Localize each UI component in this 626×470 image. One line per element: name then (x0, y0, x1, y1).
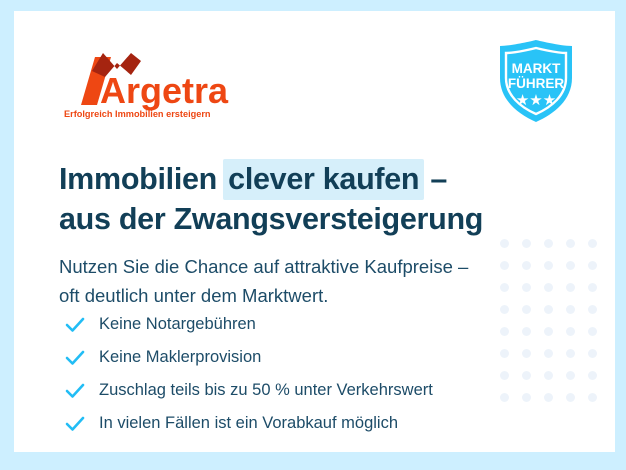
list-item: In vielen Fällen ist ein Vorabkauf mögli… (64, 407, 433, 440)
grid-dot (566, 305, 575, 314)
grid-dot (588, 349, 597, 358)
grid-dot (500, 327, 509, 336)
grid-dot (500, 261, 509, 270)
page-subheadline: Nutzen Sie die Chance auf attraktive Kau… (59, 252, 468, 310)
grid-dot (588, 393, 597, 402)
subheadline-line-2: oft deutlich unter dem Marktwert. (59, 285, 328, 306)
headline-suffix: – (422, 162, 447, 196)
dot-grid-decoration (493, 232, 603, 408)
grid-dot (588, 239, 597, 248)
grid-dot (588, 327, 597, 336)
marktfuehrer-badge: MARKT FÜHRER ★★★ (492, 38, 580, 124)
grid-dot (544, 305, 553, 314)
headline-prefix: Immobilien (59, 162, 225, 196)
check-icon (64, 413, 86, 435)
page-headline: Immobilien clever kaufen – aus der Zwang… (59, 160, 483, 238)
subheadline-line-1: Nutzen Sie die Chance auf attraktive Kau… (59, 256, 468, 277)
benefit-label: Zuschlag teils bis zu 50 % unter Verkehr… (99, 381, 433, 400)
check-icon (64, 380, 86, 402)
list-item: Zuschlag teils bis zu 50 % unter Verkehr… (64, 374, 433, 407)
grid-dot (522, 305, 531, 314)
grid-dot (544, 327, 553, 336)
headline-line-1: Immobilien clever kaufen – (59, 162, 447, 196)
grid-dot (588, 283, 597, 292)
grid-dot (588, 261, 597, 270)
badge-stars: ★★★ (516, 91, 556, 109)
grid-dot (588, 371, 597, 380)
grid-dot (500, 393, 509, 402)
grid-dot (566, 261, 575, 270)
grid-dot (566, 393, 575, 402)
grid-dot (522, 261, 531, 270)
check-icon (64, 314, 86, 336)
badge-line1: MARKT (512, 61, 561, 76)
check-icon (64, 347, 86, 369)
grid-dot (522, 349, 531, 358)
grid-dot (522, 327, 531, 336)
grid-dot (566, 283, 575, 292)
grid-dot (544, 239, 553, 248)
grid-dot (522, 393, 531, 402)
grid-dot (500, 283, 509, 292)
grid-dot (566, 349, 575, 358)
grid-dot (544, 393, 553, 402)
logo-wordmark: Argetra (100, 70, 229, 111)
grid-dot (522, 239, 531, 248)
grid-dot (522, 371, 531, 380)
grid-dot (544, 283, 553, 292)
badge-line2: FÜHRER (508, 76, 564, 91)
benefit-label: In vielen Fällen ist ein Vorabkauf mögli… (99, 414, 398, 433)
headline-line-2: aus der Zwangsversteigerung (59, 200, 483, 238)
grid-dot (500, 305, 509, 314)
list-item: Keine Notargebühren (64, 308, 433, 341)
grid-dot (544, 349, 553, 358)
benefit-label: Keine Notargebühren (99, 315, 256, 334)
argetra-logo[interactable]: Argetra Erfolgreich Immobilien ersteiger… (59, 47, 259, 119)
benefit-label: Keine Maklerprovision (99, 348, 261, 367)
grid-dot (500, 349, 509, 358)
list-item: Keine Maklerprovision (64, 341, 433, 374)
headline-highlight: clever kaufen (223, 159, 424, 200)
grid-dot (566, 239, 575, 248)
benefits-list: Keine Notargebühren Keine Maklerprovisio… (64, 308, 433, 440)
grid-dot (566, 327, 575, 336)
grid-dot (588, 305, 597, 314)
grid-dot (566, 371, 575, 380)
logo-tagline: Erfolgreich Immobilien ersteigern (64, 109, 211, 119)
grid-dot (500, 239, 509, 248)
grid-dot (544, 261, 553, 270)
grid-dot (500, 371, 509, 380)
grid-dot (522, 283, 531, 292)
banner-card: Argetra Erfolgreich Immobilien ersteiger… (14, 11, 615, 452)
promo-banner: Argetra Erfolgreich Immobilien ersteiger… (0, 0, 626, 470)
grid-dot (544, 371, 553, 380)
